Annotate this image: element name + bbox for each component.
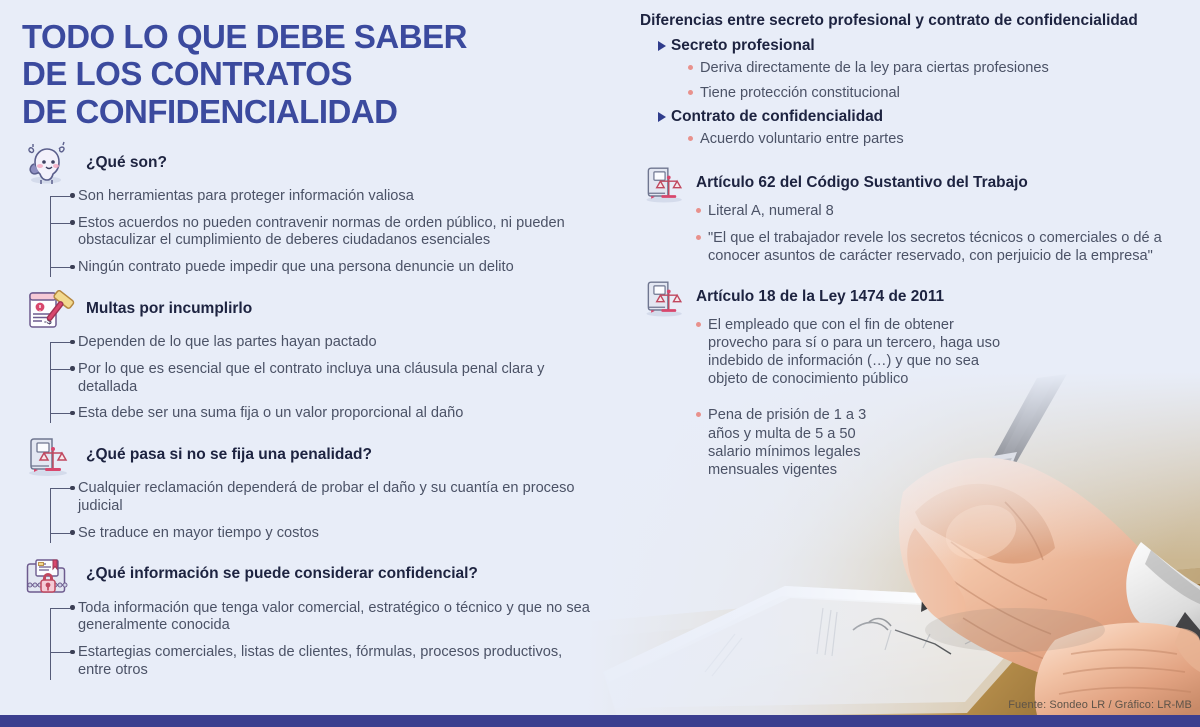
page-title-line-3: DE CONFIDENCIALIDAD [22,93,590,130]
triangle-bullet-icon [658,112,666,122]
section-que-son: ¿Qué son? Son herramientas para proteger… [22,140,590,277]
group-header-contrato-confidencialidad: Contrato de confidencialidad [658,108,1192,126]
article-body: Literal A, numeral 8 "El que el trabajad… [696,202,1192,265]
page-title-line-2: DE LOS CONTRATOS [22,55,590,92]
branch-arm [50,488,70,489]
branch-arm [50,533,70,534]
bullet-dot [696,208,701,213]
section-header: -$ Multas por incumplirlo [22,286,590,332]
bullet-dot [688,90,693,95]
section-title: ¿Qué pasa si no se fija una penalidad? [86,446,372,465]
branch-arm [50,223,70,224]
article-header: Artículo 62 del Código Sustantivo del Tr… [640,160,1192,206]
bullet-dot [696,412,701,417]
section-title: ¿Qué son? [86,154,167,173]
section-header: ¿Qué pasa si no se fija una penalidad? [22,432,590,478]
list-item-text: Estartegias comerciales, listas de clien… [78,644,562,678]
list-item-text: Tiene protección constitucional [700,85,900,101]
article-18: Artículo 18 de la Ley 1474 de 2011 El em… [640,274,1192,479]
list-item: Dependen de lo que las partes hayan pact… [50,334,590,352]
bullet-dot [70,605,75,610]
section-title: Multas por incumplirlo [86,300,252,319]
differences-title: Diferencias entre secreto profesional y … [640,12,1192,30]
branch-arm [50,267,70,268]
bullet-dot [70,220,75,225]
bullet-dot [696,235,701,240]
section-header: ¿Qué son? [22,140,590,186]
section-header: ¿Qué información se puede considerar con… [22,552,590,598]
list-item: Son herramientas para proteger informaci… [50,188,590,206]
list-item: Se traduce en mayor tiempo y costos [50,525,590,543]
list-item: Por lo que es esencial que el contrato i… [50,361,590,397]
left-column: TODO LO QUE DEBE SABER DE LOS CONTRATOS … [0,0,600,715]
list-item: Literal A, numeral 8 [696,202,1192,220]
infographic-page: TODO LO QUE DEBE SABER DE LOS CONTRATOS … [0,0,1200,727]
list-item-text: Literal A, numeral 8 [708,203,834,219]
section-title: ¿Qué información se puede considerar con… [86,565,478,584]
section-penalidad: ¿Qué pasa si no se fija una penalidad? C… [22,432,590,542]
list-item: Pena de prisión de 1 a 3 años y multa de… [696,406,896,478]
list-item-text: Deriva directamente de la ley para ciert… [700,60,1049,76]
list-item: Estartegias comerciales, listas de clien… [50,644,590,680]
group-header-secreto-profesional: Secreto profesional [658,37,1192,55]
list-item: Ningún contrato puede impedir que una pe… [50,259,590,277]
bullet-dot [688,65,693,70]
page-title: TODO LO QUE DEBE SABER DE LOS CONTRATOS … [22,18,590,130]
list-item-text: Esta debe ser una suma fija o un valor p… [78,405,463,421]
article-title: Artículo 62 del Código Sustantivo del Tr… [696,174,1028,192]
list-item-text: Son herramientas para proteger informaci… [78,188,414,204]
thinking-blob-icon [22,140,78,186]
locked-folder-icon [22,552,78,598]
bullet-dot [70,265,75,270]
branch-arm [50,413,70,414]
bullet-dot [688,136,693,141]
list-item: Acuerdo voluntario entre partes [688,130,1192,148]
bullet-dot [70,193,75,198]
list-item: Cualquier reclamación dependerá de proba… [50,480,590,516]
branch-list: Son herramientas para proteger informaci… [22,188,590,277]
list-item: El empleado que con el fin de obtener pr… [696,316,1016,388]
lawbook-scales-icon [640,274,692,320]
list-item-text: Pena de prisión de 1 a 3 años y multa de… [708,407,866,477]
lawbook-scales-icon [22,432,78,478]
list-item: Esta debe ser una suma fija o un valor p… [50,405,590,423]
branch-arm [50,652,70,653]
section-multas: -$ Multas por incumplirlo Dependen de lo… [22,286,590,423]
branch-arm [50,608,70,609]
bullet-dot [70,411,75,416]
bullet-dot [70,366,75,371]
list-item-text: Toda información que tenga valor comerci… [78,600,590,634]
lawbook-scales-icon [640,160,692,206]
branch-arm [50,196,70,197]
bullet-dot [70,340,75,345]
branch-arm [50,342,70,343]
list-item-text: "El que el trabajador revele los secreto… [708,230,1162,264]
list-item-text: Por lo que es esencial que el contrato i… [78,361,544,395]
list-item: Deriva directamente de la ley para ciert… [688,59,1192,77]
page-title-line-1: TODO LO QUE DEBE SABER [22,18,590,55]
list-item: Tiene protección constitucional [688,84,1192,102]
list-item-text: El empleado que con el fin de obtener pr… [708,317,1000,387]
source-credit: Fuente: Sondeo LR / Gráfico: LR-MB [1008,699,1192,711]
branch-list: Toda información que tenga valor comerci… [22,600,590,680]
article-62: Artículo 62 del Código Sustantivo del Tr… [640,160,1192,265]
group-label: Secreto profesional [671,37,815,55]
gavel-fine-icon: -$ [22,286,78,332]
group-label: Contrato de confidencialidad [671,108,883,126]
list-item-text: Cualquier reclamación dependerá de proba… [78,480,575,514]
triangle-bullet-icon [658,41,666,51]
list-item-text: Estos acuerdos no pueden contravenir nor… [78,215,565,249]
list-item: "El que el trabajador revele los secreto… [696,229,1192,265]
bullet-dot [70,650,75,655]
list-item: Toda información que tenga valor comerci… [50,600,590,636]
list-item-text: Se traduce en mayor tiempo y costos [78,525,319,541]
article-header: Artículo 18 de la Ley 1474 de 2011 [640,274,1192,320]
list-item-text: Acuerdo voluntario entre partes [700,131,904,147]
list-item-text: Dependen de lo que las partes hayan pact… [78,334,377,350]
bullet-dot [70,486,75,491]
list-item: Estos acuerdos no pueden contravenir nor… [50,215,590,251]
article-body: El empleado que con el fin de obtener pr… [696,316,1056,479]
branch-list: Dependen de lo que las partes hayan pact… [22,334,590,423]
branch-list: Cualquier reclamación dependerá de proba… [22,480,590,542]
section-informacion-confidencial: ¿Qué información se puede considerar con… [22,552,590,680]
bottom-accent-bar [0,715,1200,727]
right-column: Diferencias entre secreto profesional y … [640,0,1200,715]
branch-arm [50,369,70,370]
list-item-text: Ningún contrato puede impedir que una pe… [78,259,514,275]
article-title: Artículo 18 de la Ley 1474 de 2011 [696,288,944,306]
bullet-dot [70,530,75,535]
bullet-dot [696,322,701,327]
